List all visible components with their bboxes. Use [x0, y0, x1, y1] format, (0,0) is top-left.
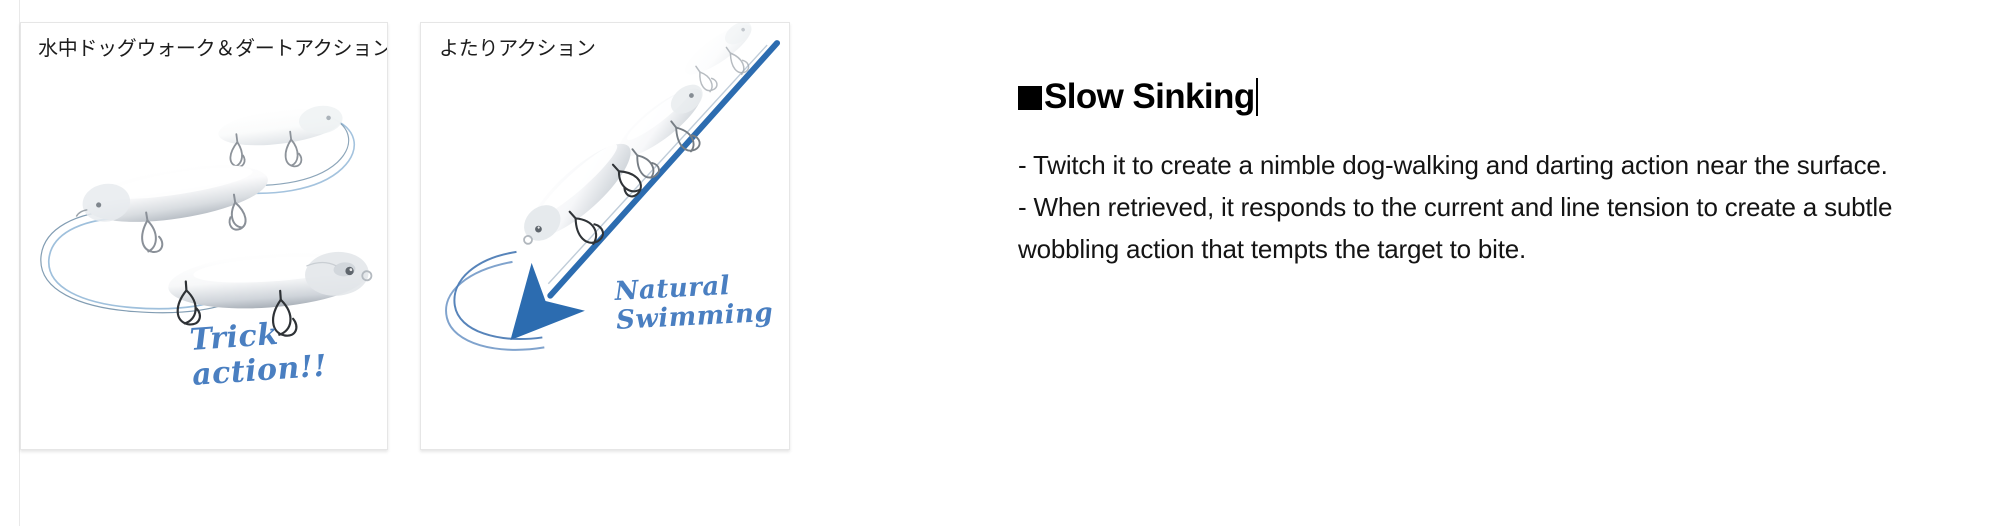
description-paragraph-2: - When retrieved, it responds to the cur…: [1018, 186, 1948, 270]
description-paragraph-1: - Twitch it to create a nimble dog-walki…: [1018, 144, 1948, 186]
lure-upper-right: [216, 102, 347, 175]
panel-1-script-label: Trick action!!: [189, 309, 388, 393]
page-title: Slow Sinking: [1018, 78, 1948, 116]
panel-dog-walk-action: 水中ドッグウォーク＆ダートアクション: [20, 22, 388, 450]
lure-middle: [71, 155, 276, 264]
square-bullet-icon: [1018, 86, 1042, 110]
panel-natural-swimming: よたりアクション: [420, 22, 790, 450]
lure-natural-swimming-diagram: [421, 23, 789, 449]
page-title-text: Slow Sinking: [1044, 79, 1255, 116]
panel-2-script-label: Natural Swimming: [614, 270, 774, 336]
text-cursor-icon: [1256, 78, 1258, 116]
page-root: 水中ドッグウォーク＆ダートアクション: [0, 0, 2000, 526]
description-block: Slow Sinking - Twitch it to create a nim…: [1018, 78, 1948, 270]
description-body: - Twitch it to create a nimble dog-walki…: [1018, 144, 1948, 270]
